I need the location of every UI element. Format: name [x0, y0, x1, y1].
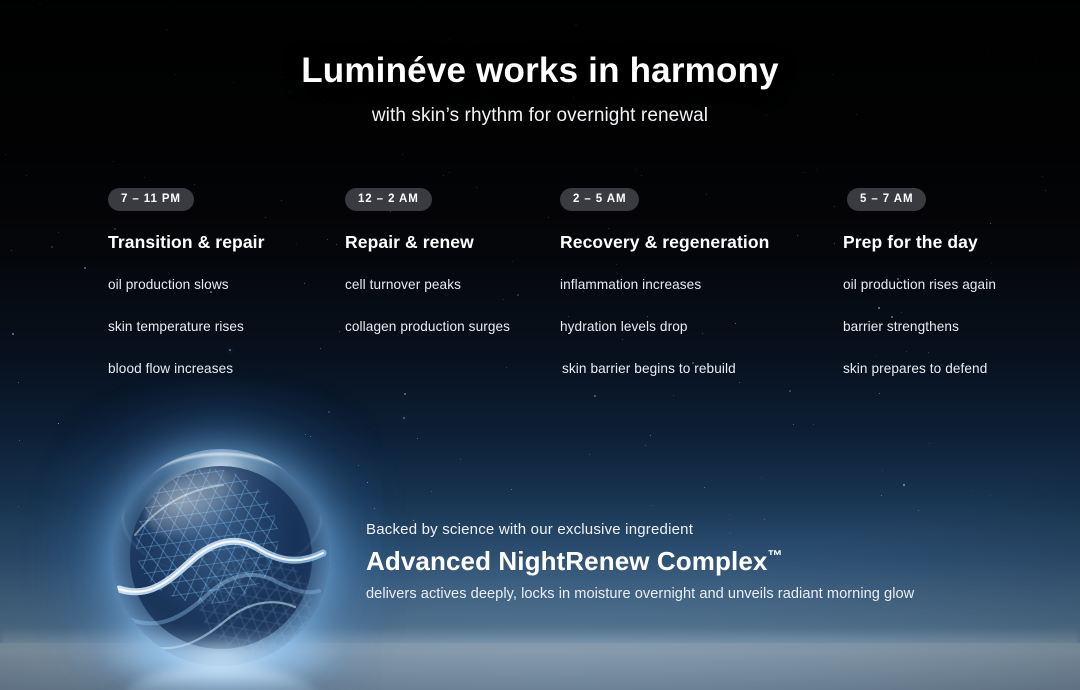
list-item: oil production rises again	[843, 277, 1058, 292]
column-heading: Repair & renew	[345, 232, 555, 253]
column-list: inflammation increases hydration levels …	[560, 277, 815, 376]
column-heading: Prep for the day	[843, 232, 1058, 253]
time-badge: 7 – 11 PM	[108, 188, 194, 211]
header: Luminéve works in harmony with skin’s rh…	[0, 52, 1080, 127]
time-badge: 2 – 5 AM	[560, 188, 639, 211]
time-badge: 5 – 7 AM	[847, 188, 926, 211]
column-heading: Recovery & regeneration	[560, 232, 815, 253]
column-list: oil production slows skin temperature ri…	[108, 277, 323, 376]
trademark-symbol: ™	[767, 547, 782, 564]
list-item: inflammation increases	[560, 277, 815, 292]
sphere-graphic	[113, 449, 329, 666]
promo-product-name: Advanced NightRenew Complex™	[366, 546, 1026, 577]
list-item: collagen production surges	[345, 319, 555, 334]
promo-poster: Luminéve works in harmony with skin’s rh…	[0, 0, 1080, 690]
page-title: Luminéve works in harmony	[0, 52, 1080, 91]
column-list: cell turnover peaks collagen production …	[345, 277, 555, 334]
promo-block: Backed by science with our exclusive ing…	[366, 521, 1026, 602]
list-item: cell turnover peaks	[345, 277, 555, 292]
column-heading: Transition & repair	[108, 232, 323, 253]
list-item: oil production slows	[108, 277, 323, 292]
list-item: skin temperature rises	[108, 319, 323, 334]
list-item: skin prepares to defend	[843, 361, 1058, 376]
column-list: oil production rises again barrier stren…	[843, 277, 1058, 376]
time-badge: 12 – 2 AM	[345, 188, 432, 211]
page-subtitle: with skin’s rhythm for overnight renewal	[0, 105, 1080, 127]
product-name-text: Advanced NightRenew Complex	[366, 546, 767, 576]
sphere-body	[113, 449, 329, 666]
list-item: blood flow increases	[108, 361, 323, 376]
sphere-rim	[122, 453, 323, 577]
timeline-column-4: 5 – 7 AM Prep for the day oil production…	[843, 188, 1058, 376]
list-item: barrier strengthens	[843, 319, 1058, 334]
promo-description: delivers actives deeply, locks in moistu…	[366, 586, 1026, 602]
list-item: hydration levels drop	[560, 319, 815, 334]
timeline-column-2: 12 – 2 AM Repair & renew cell turnover p…	[345, 188, 555, 334]
timeline-column-3: 2 – 5 AM Recovery & regeneration inflamm…	[560, 188, 815, 376]
timeline-column-1: 7 – 11 PM Transition & repair oil produc…	[108, 188, 323, 376]
promo-kicker: Backed by science with our exclusive ing…	[366, 521, 1026, 538]
list-item: skin barrier begins to rebuild	[560, 361, 815, 376]
